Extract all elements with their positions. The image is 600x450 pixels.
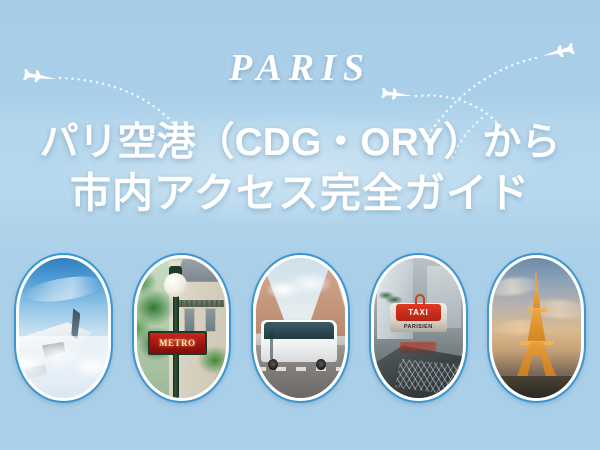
taxi-sign-subplate: PARISIEN	[393, 322, 443, 332]
taxi-sign-image: TAXI PARISIEN	[374, 258, 463, 398]
airplane-wing-image	[19, 258, 108, 398]
metro-sign-plate: METRO	[148, 331, 207, 355]
thumbnail-frame: TAXI PARISIEN	[374, 258, 463, 398]
thumbnail-paris-taxi[interactable]: TAXI PARISIEN	[369, 253, 468, 403]
thumbnail-frame: METRO	[137, 258, 226, 398]
eiffel-tower-image	[492, 258, 581, 398]
thumbnail-paris-metro[interactable]: METRO	[132, 253, 231, 403]
thumbnail-frame	[492, 258, 581, 398]
thumbnail-city-bus[interactable]	[251, 253, 350, 403]
metro-sign-image: METRO	[137, 258, 226, 398]
taxi-sign-subtext: PARISIEN	[404, 324, 433, 330]
paris-access-guide-banner: PARIS パリ空港（CDG・ORY）から 市内アクセス完全ガイド	[0, 0, 600, 450]
thumbnail-airplane-window[interactable]	[14, 253, 113, 403]
thumbnail-strip: METRO	[14, 252, 586, 404]
thumbnail-frame	[256, 258, 345, 398]
city-bus-image	[256, 258, 345, 398]
page-title: パリ空港（CDG・ORY）から 市内アクセス完全ガイド	[0, 118, 600, 218]
taxi-sign-text: TAXI	[408, 308, 428, 317]
thumbnail-frame	[19, 258, 108, 398]
headline-line-1: パリ空港（CDG・ORY）から	[0, 118, 600, 168]
metro-sign-text: METRO	[159, 338, 196, 348]
eyebrow-paris: PARIS	[0, 46, 600, 90]
headline-line-2: 市内アクセス完全ガイド	[0, 168, 600, 218]
taxi-sign-plate: TAXI	[396, 304, 441, 321]
thumbnail-eiffel-tower[interactable]	[487, 253, 586, 403]
